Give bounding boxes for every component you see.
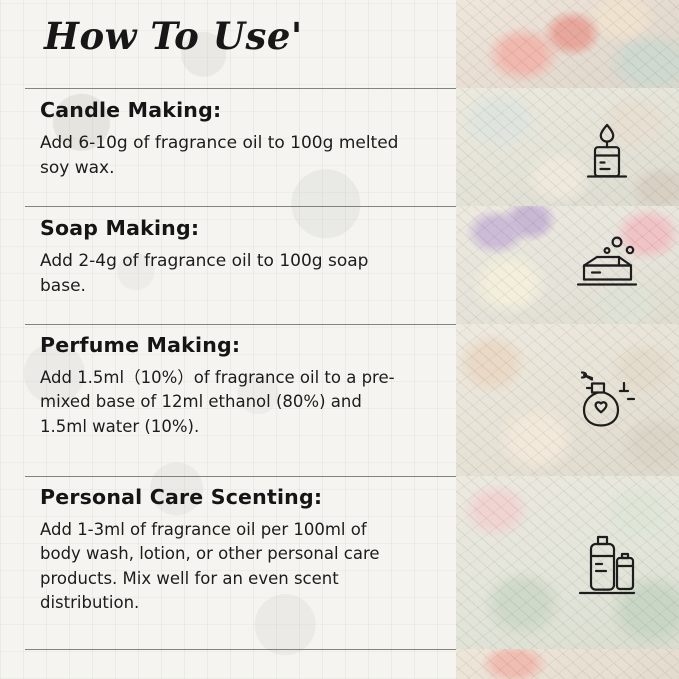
section-body: Add 6-10g of fragrance oil to 100g melte… — [40, 131, 412, 181]
divider-rule — [25, 324, 456, 325]
photo-band-rose-bottom — [456, 649, 679, 679]
section-soap-making: Soap Making: Add 2-4g of fragrance oil t… — [40, 216, 440, 299]
page-title: How To Use' — [44, 14, 303, 58]
soap-bar-icon — [563, 219, 651, 307]
section-candle-making: Candle Making: Add 6-10g of fragrance oi… — [40, 98, 440, 181]
section-heading: Perfume Making: — [40, 333, 440, 357]
divider-rule — [25, 88, 456, 89]
section-heading: Soap Making: — [40, 216, 440, 240]
section-body: Add 1.5ml（10%）of fragrance oil to a pre-… — [40, 366, 412, 439]
divider-rule — [25, 649, 456, 650]
lotion-bottles-icon — [563, 521, 651, 609]
section-heading: Candle Making: — [40, 98, 440, 122]
section-body: Add 2-4g of fragrance oil to 100g soap b… — [40, 249, 412, 299]
section-heading: Personal Care Scenting: — [40, 485, 440, 509]
poster-page: How To Use' Candle Making: Add 6-10g of … — [0, 0, 679, 679]
section-perfume-making: Perfume Making: Add 1.5ml（10%）of fragran… — [40, 333, 440, 439]
divider-rule — [25, 206, 456, 207]
divider-rule — [25, 476, 456, 477]
perfume-bottle-icon — [563, 355, 651, 443]
section-personal-care-scenting: Personal Care Scenting: Add 1-3ml of fra… — [40, 485, 440, 615]
content-panel: How To Use' Candle Making: Add 6-10g of … — [0, 0, 456, 679]
photo-band-roses-and-scissors — [456, 0, 679, 88]
section-body: Add 1-3ml of fragrance oil per 100ml of … — [40, 518, 412, 615]
candle-icon — [563, 107, 651, 195]
